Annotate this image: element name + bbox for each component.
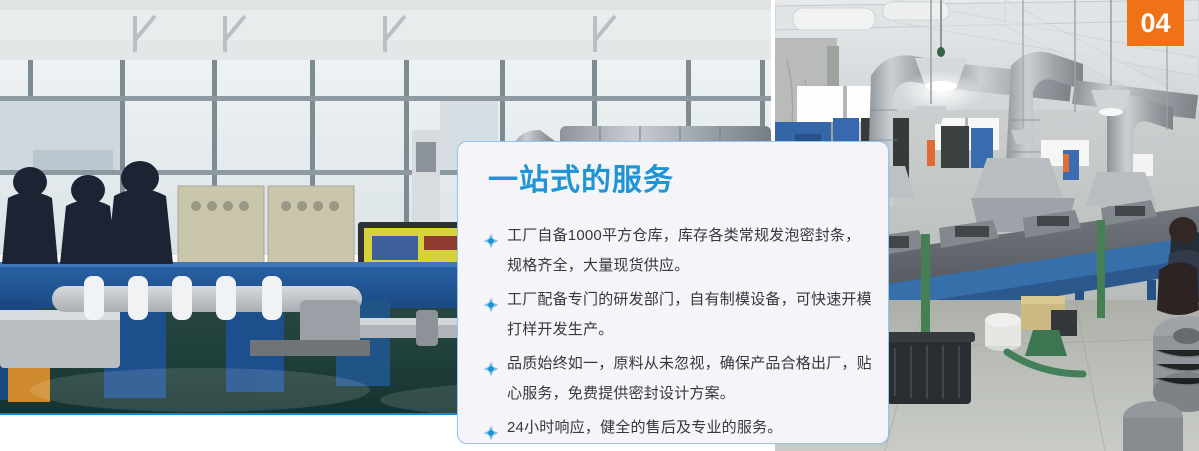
list-item: 工厂配备专门的研发部门，自有制模设备，可快速开模打样开发生产。 [483,285,874,345]
diamond-dot-icon [484,293,498,307]
list-item-text: 工厂自备1000平方仓库，库存各类常规发泡密封条，规格齐全，大量现货供应。 [507,227,860,274]
service-info-card: 一站式的服务 工厂自备1000平方仓库，库存各类常规发泡密封条，规格齐全，大量 [457,141,889,444]
diamond-dot-icon [484,229,498,243]
list-item-text: 24小时响应，健全的售后及专业的服务。 [507,419,783,436]
diamond-dot-icon [484,421,498,435]
list-item: 工厂自备1000平方仓库，库存各类常规发泡密封条，规格齐全，大量现货供应。 [483,221,874,281]
promo-banner: 04 一站式的服务 工厂自备1000平方仓库，库存 [0,0,1199,451]
list-item: 品质始终如一，原料从未忽视，确保产品合格出厂，贴心服务，免费提供密封设计方案。 [483,349,874,409]
list-item-text: 工厂配备专门的研发部门，自有制模设备，可快速开模打样开发生产。 [507,291,872,338]
list-item-text: 品质始终如一，原料从未忽视，确保产品合格出厂，贴心服务，免费提供密封设计方案。 [507,355,872,402]
step-number-label: 04 [1140,10,1170,37]
diamond-dot-icon [484,357,498,371]
card-title: 一站式的服务 [488,166,674,196]
list-item: 24小时响应，健全的售后及专业的服务。 [483,413,874,443]
service-bullet-list: 工厂自备1000平方仓库，库存各类常规发泡密封条，规格齐全，大量现货供应。 [483,221,874,447]
step-number-badge: 04 [1127,0,1184,46]
